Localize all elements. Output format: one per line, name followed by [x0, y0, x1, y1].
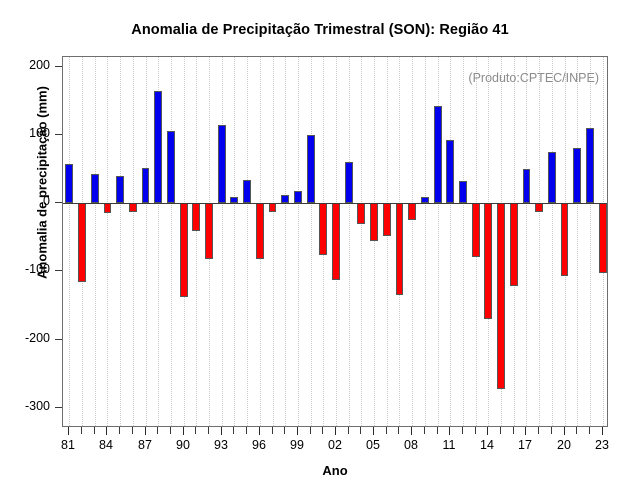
chart-page: Anomalia de Precipitação Trimestral (SON…	[0, 0, 640, 500]
x-tick-mark	[106, 427, 107, 435]
x-tick-mark	[119, 427, 120, 434]
x-tick-mark	[538, 427, 539, 434]
x-tick-label: 17	[505, 438, 545, 452]
x-tick-mark	[449, 427, 450, 435]
x-tick-mark	[68, 427, 69, 435]
x-tick-label: 87	[125, 438, 165, 452]
x-tick-mark	[310, 427, 311, 434]
x-tick-mark	[183, 427, 184, 435]
x-tick-mark	[462, 427, 463, 434]
x-tick-mark	[398, 427, 399, 434]
x-tick-label: 14	[467, 438, 507, 452]
x-tick-mark	[246, 427, 247, 434]
x-tick-mark	[335, 427, 336, 435]
x-tick-mark	[525, 427, 526, 435]
x-tick-label: 08	[391, 438, 431, 452]
x-axis: 818487909396990205081114172023	[0, 0, 640, 500]
x-tick-mark	[272, 427, 273, 434]
x-tick-label: 96	[239, 438, 279, 452]
x-tick-mark	[132, 427, 133, 434]
x-tick-mark	[259, 427, 260, 435]
x-tick-mark	[145, 427, 146, 435]
x-tick-mark	[221, 427, 222, 435]
x-tick-mark	[157, 427, 158, 434]
x-tick-mark	[487, 427, 488, 435]
x-tick-mark	[348, 427, 349, 434]
x-tick-label: 11	[429, 438, 469, 452]
x-tick-mark	[208, 427, 209, 434]
x-tick-label: 93	[201, 438, 241, 452]
x-tick-label: 02	[315, 438, 355, 452]
x-tick-label: 81	[48, 438, 88, 452]
x-tick-mark	[373, 427, 374, 435]
x-tick-mark	[589, 427, 590, 434]
x-tick-mark	[411, 427, 412, 435]
x-tick-mark	[195, 427, 196, 434]
x-tick-label: 84	[86, 438, 126, 452]
x-tick-mark	[475, 427, 476, 434]
x-tick-mark	[233, 427, 234, 434]
x-tick-mark	[170, 427, 171, 434]
x-tick-mark	[576, 427, 577, 434]
x-tick-mark	[564, 427, 565, 435]
x-tick-label: 05	[353, 438, 393, 452]
x-tick-mark	[500, 427, 501, 434]
x-tick-mark	[81, 427, 82, 434]
x-tick-mark	[297, 427, 298, 435]
x-tick-mark	[551, 427, 552, 434]
x-tick-mark	[360, 427, 361, 434]
x-tick-mark	[386, 427, 387, 434]
x-tick-mark	[513, 427, 514, 434]
x-tick-mark	[322, 427, 323, 434]
x-tick-mark	[602, 427, 603, 435]
x-tick-label: 20	[544, 438, 584, 452]
x-tick-label: 23	[582, 438, 622, 452]
x-tick-label: 90	[163, 438, 203, 452]
x-tick-mark	[284, 427, 285, 434]
x-tick-mark	[424, 427, 425, 434]
x-tick-mark	[437, 427, 438, 434]
x-tick-mark	[94, 427, 95, 434]
x-tick-label: 99	[277, 438, 317, 452]
